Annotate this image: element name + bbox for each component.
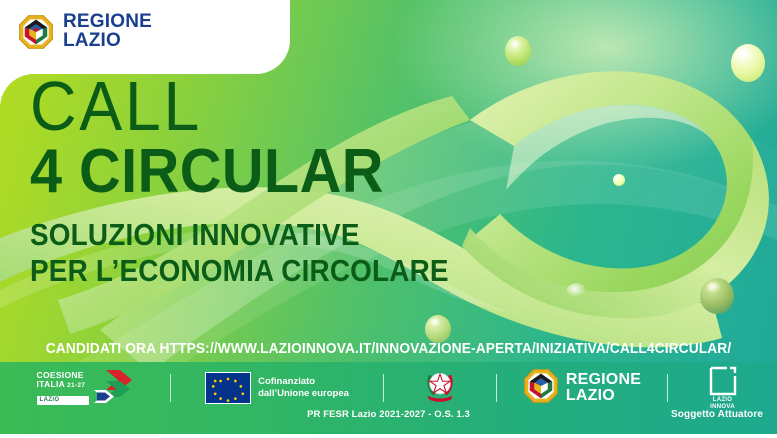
logo-italian-republic xyxy=(384,366,496,410)
coesione-years: 21-27 xyxy=(67,383,85,390)
decorative-sphere xyxy=(613,174,625,186)
italian-republic-emblem-icon xyxy=(421,367,459,410)
hero-title: 4 CIRCULAR xyxy=(30,143,463,200)
regione-lazio-emblem-icon xyxy=(18,14,54,50)
promo-banner: REGIONE LAZIO CALL 4 CIRCULAR SOLUZIONI … xyxy=(0,0,777,438)
eu-flag-icon xyxy=(205,372,251,404)
regione-footer-line-2: LAZIO xyxy=(566,388,641,404)
decorative-sphere xyxy=(425,315,451,343)
brand-line-1: REGIONE xyxy=(63,13,152,32)
soggetto-attuatore-label: Soggetto Attuatore xyxy=(671,409,763,420)
hero-eyebrow: CALL xyxy=(30,78,458,135)
decorative-sphere xyxy=(731,44,765,82)
hero-subtitle-line-1: SOLUZIONI INNOVATIVE xyxy=(30,218,449,251)
decorative-sphere xyxy=(557,277,603,325)
decorative-sphere xyxy=(505,36,531,66)
brand-line-2: LAZIO xyxy=(63,32,152,51)
hero-copy: CALL 4 CIRCULAR SOLUZIONI INNOVATIVE PER… xyxy=(30,78,495,287)
logo-regione-lazio: REGIONE LAZIO xyxy=(497,366,667,410)
decorative-sphere xyxy=(700,278,734,314)
coesione-arrow-icon xyxy=(92,368,134,409)
lazio-innova-bracket-icon xyxy=(709,366,737,396)
header-plate: REGIONE LAZIO xyxy=(0,0,290,74)
coesione-region-tag: LAZIO xyxy=(37,396,89,405)
regione-footer-line-1: REGIONE xyxy=(566,372,641,388)
coesione-line-2: ITALIA xyxy=(37,380,66,389)
regione-lazio-emblem-icon xyxy=(523,368,559,409)
cta-url[interactable]: CANDIDATI ORA HTTPS://WWW.LAZIOINNOVA.IT… xyxy=(19,341,757,357)
footer-bottom-edge xyxy=(0,434,777,438)
logo-lazio-innova: LAZIO INNOVA xyxy=(668,366,777,410)
footer-bar: COESIONE ITALIA 21-27 LAZIO xyxy=(0,362,777,434)
logo-european-union: Cofinanziato dall’Unione europea xyxy=(171,366,383,410)
footer-logo-strip: COESIONE ITALIA 21-27 LAZIO xyxy=(0,366,777,410)
innova-name-line-1: LAZIO xyxy=(710,397,735,403)
programme-note: PR FESR Lazio 2021-2027 - O.S. 1.3 xyxy=(0,409,777,420)
brand-name: REGIONE LAZIO xyxy=(63,13,152,50)
hero-subtitle-line-2: PER L’ECONOMIA CIRCOLARE xyxy=(30,254,449,287)
logo-coesione-italia: COESIONE ITALIA 21-27 LAZIO xyxy=(0,366,170,410)
brand-lockup: REGIONE LAZIO xyxy=(18,13,152,50)
eu-text-line-2: dall’Unione europea xyxy=(258,388,349,400)
eu-text-line-1: Cofinanziato xyxy=(258,376,349,388)
